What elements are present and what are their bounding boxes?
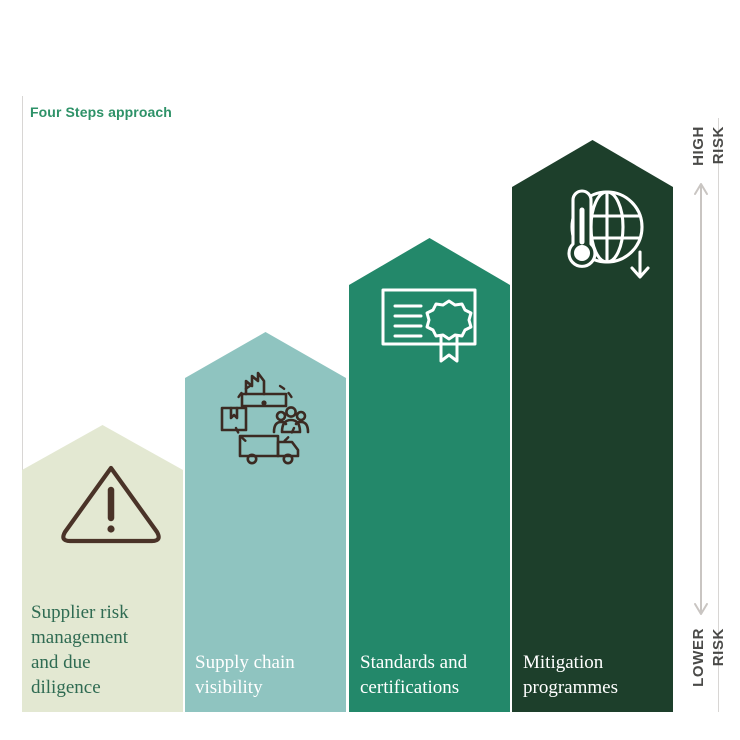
certificate-icon-glyph <box>379 285 481 365</box>
page-title: Four Steps approach <box>30 104 172 120</box>
risk-axis-arrow <box>692 178 710 620</box>
high-risk-label-line2: RISK <box>710 126 727 164</box>
right-axis-rule <box>718 118 719 712</box>
high-risk-label-line1: HIGH <box>690 126 707 166</box>
bar-step-2-label: Supply chain visibility <box>195 650 345 700</box>
bar-step-1-label: Supplier risk management and due diligen… <box>31 600 181 700</box>
infographic-canvas: Four Steps approach Supplier risk manage… <box>0 0 740 740</box>
warning-triangle-icon <box>57 460 165 548</box>
warning-triangle-icon-glyph <box>57 460 165 548</box>
lower-risk-label-line2: RISK <box>710 628 727 666</box>
lower-risk-label-line1: LOWER <box>690 628 707 687</box>
globe-thermometer-icon-glyph <box>543 180 655 285</box>
bar-step-3-label: Standards and certifications <box>360 650 515 700</box>
certificate-icon <box>379 285 481 365</box>
supply-chain-cycle-icon <box>212 362 318 468</box>
bar-step-4-label: Mitigation programmes <box>523 650 678 700</box>
supply-chain-cycle-icon-glyph <box>212 362 318 468</box>
globe-thermometer-icon <box>543 180 655 285</box>
